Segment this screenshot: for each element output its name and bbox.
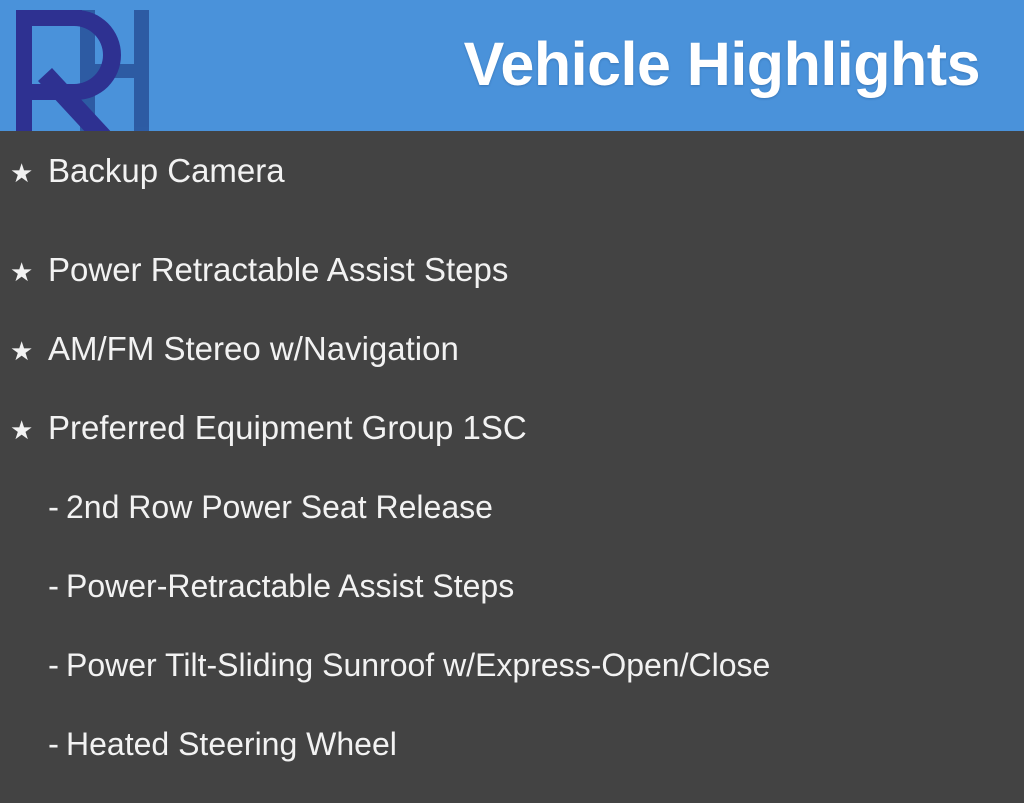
star-bullet-icon: ★	[10, 411, 48, 451]
vehicle-highlights-list: ★Backup Camera★Power Retractable Assist …	[0, 131, 1024, 803]
list-item-label: Power Retractable Assist Steps	[48, 250, 508, 290]
star-bullet-icon: ★	[10, 253, 48, 293]
slide: Vehicle Highlights ★Backup Camera★Power …	[0, 0, 1024, 768]
list-sub-item: -2nd Row Power Seat Release	[0, 487, 1024, 566]
list-item-label: AM/FM Stereo w/Navigation	[48, 329, 459, 369]
list-item: ★Power Retractable Assist Steps	[0, 250, 1024, 329]
page-title: Vehicle Highlights	[464, 27, 980, 101]
star-bullet-icon: ★	[10, 154, 48, 194]
list-item-label: Power Tilt-Sliding Sunroof w/Express-Ope…	[66, 645, 770, 685]
list-item-label: Preferred Equipment Group 1SC	[48, 408, 527, 448]
list-item-label: Heated Steering Wheel	[66, 724, 397, 764]
slide-header: Vehicle Highlights	[0, 0, 1024, 131]
dash-bullet-icon: -	[48, 645, 66, 685]
rh-monogram-logo-svg	[6, 2, 156, 131]
list-sub-item: -Power Tilt-Sliding Sunroof w/Express-Op…	[0, 645, 1024, 724]
dash-bullet-icon: -	[48, 566, 66, 606]
list-item-label: Power-Retractable Assist Steps	[66, 566, 514, 606]
list-item: ★AM/FM Stereo w/Navigation	[0, 329, 1024, 408]
list-item-label: 2nd Row Power Seat Release	[66, 487, 493, 527]
list-sub-item: -Power-Retractable Assist Steps	[0, 566, 1024, 645]
dash-bullet-icon: -	[48, 487, 66, 527]
rh-monogram-logo	[6, 2, 156, 131]
dash-bullet-icon: -	[48, 724, 66, 764]
list-item-label: Backup Camera	[48, 151, 285, 191]
logo-letter-r	[16, 10, 121, 131]
list-item: ★Backup Camera	[0, 131, 1024, 250]
list-sub-item: -Heated Steering Wheel	[0, 724, 1024, 803]
slide-body: ★Backup Camera★Power Retractable Assist …	[0, 131, 1024, 768]
list-item: ★Preferred Equipment Group 1SC	[0, 408, 1024, 487]
star-bullet-icon: ★	[10, 332, 48, 372]
